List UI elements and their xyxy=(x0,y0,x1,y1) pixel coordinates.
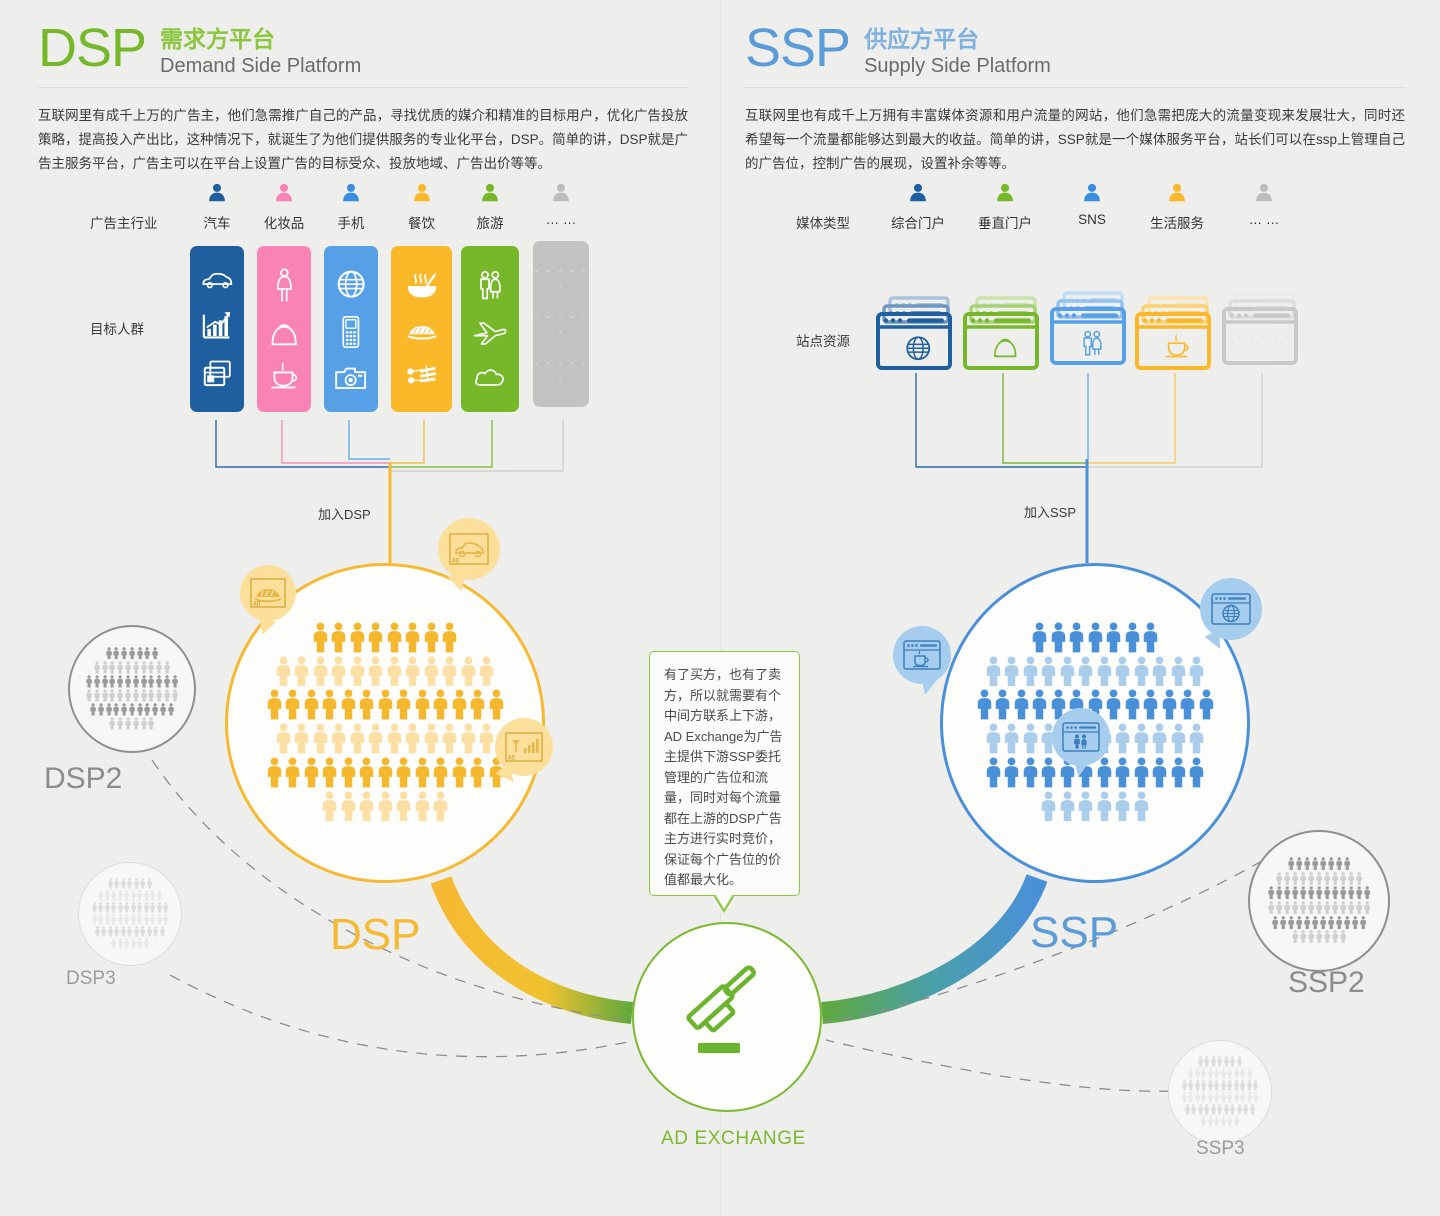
person-icon xyxy=(1312,857,1318,870)
ssp-badge-couple-window[interactable] xyxy=(1052,708,1110,766)
person-icon xyxy=(304,689,319,720)
person-icon xyxy=(1115,791,1130,822)
person-icon xyxy=(105,914,110,925)
person-icon xyxy=(1364,886,1370,899)
person-icon xyxy=(1162,689,1177,720)
dots-icon: · · · · · · xyxy=(533,355,589,385)
person-icon xyxy=(415,757,430,788)
person-icon xyxy=(118,914,123,925)
person-pin-icon-wrap xyxy=(876,182,960,209)
person-icon xyxy=(109,675,115,688)
dsp-badge-bread[interactable]: AD xyxy=(240,565,296,621)
ssp-site-window xyxy=(1135,296,1219,370)
person-icon xyxy=(111,902,116,913)
person-icon xyxy=(133,717,139,730)
person-icon xyxy=(127,926,132,937)
person-icon xyxy=(1214,1068,1219,1079)
person-icon xyxy=(1023,723,1038,754)
person-icon xyxy=(113,647,119,660)
dsp-column-label: 餐饮 xyxy=(391,212,452,232)
browser-window-stack xyxy=(1222,291,1306,365)
person-icon xyxy=(424,723,439,754)
skewer-icon xyxy=(405,363,439,387)
person-icon xyxy=(1308,886,1314,899)
ssp-column-4[interactable]: 生活服务 xyxy=(1135,182,1219,370)
browser-window-stack xyxy=(1135,296,1219,370)
person-icon xyxy=(276,656,291,687)
person-icon xyxy=(1115,656,1130,687)
person-icon xyxy=(1208,1080,1213,1091)
window-couple-icon xyxy=(1061,721,1101,753)
coffee-cup-icon xyxy=(1163,334,1192,359)
ad-signal-chart-icon: AD xyxy=(505,732,543,762)
ssp3-circle xyxy=(1168,1040,1272,1144)
person-icon xyxy=(160,926,165,937)
person-icon xyxy=(285,757,300,788)
person-icon xyxy=(1214,1092,1219,1103)
person-icon xyxy=(172,689,178,702)
person-icon xyxy=(1106,622,1121,653)
person-icon xyxy=(152,703,158,716)
person-icon xyxy=(1189,757,1204,788)
person-icon xyxy=(1227,1116,1232,1127)
person-icon xyxy=(1230,1056,1235,1067)
globe-icon xyxy=(335,268,367,300)
person-icon xyxy=(1221,1080,1226,1091)
ssp-column-label: SNS xyxy=(1050,212,1134,227)
person-icon xyxy=(1201,1116,1206,1127)
person-icon xyxy=(111,890,116,901)
person-icon xyxy=(1051,622,1066,653)
person-icon xyxy=(106,703,112,716)
person-icon xyxy=(121,878,126,889)
person-icon xyxy=(359,757,374,788)
person-icon xyxy=(1198,1104,1203,1115)
globe-icon xyxy=(904,334,933,363)
person-icon xyxy=(1221,1116,1226,1127)
ssp-column-3[interactable]: SNS xyxy=(1050,182,1134,365)
person-icon xyxy=(1340,872,1346,885)
person-icon xyxy=(489,689,504,720)
person-icon xyxy=(1208,1068,1213,1079)
callout-tail-inner xyxy=(715,894,733,909)
ssp-header-rule xyxy=(745,87,1405,88)
person-icon xyxy=(1224,1056,1229,1067)
person-icon xyxy=(164,661,170,674)
person-icon xyxy=(294,723,309,754)
dsp3-person-row xyxy=(95,926,165,937)
dsp-column-2[interactable]: 化妆品 xyxy=(257,182,311,412)
dsp3-person-row xyxy=(98,890,162,901)
person-icon xyxy=(1328,916,1334,929)
svg-text:AD: AD xyxy=(253,601,261,608)
person-icon xyxy=(157,890,162,901)
person-icon xyxy=(986,656,1001,687)
person-icon xyxy=(387,622,402,653)
person-icon xyxy=(1115,757,1130,788)
person-icon xyxy=(153,926,158,937)
ad-bread-icon: AD xyxy=(250,578,286,608)
ssp-window-glyph xyxy=(1135,334,1219,359)
person-icon xyxy=(1300,886,1306,899)
ssp-cn-title: 供应方平台 xyxy=(864,26,1051,53)
person-icon xyxy=(1189,723,1204,754)
person-icon xyxy=(368,723,383,754)
ssp-person-row xyxy=(1032,622,1158,653)
person-icon xyxy=(442,622,457,653)
person-icon xyxy=(1180,689,1195,720)
exchange-callout-text: 有了买方，也有了卖方，所以就需要有个中间方联系上下游，AD Exchange为广… xyxy=(650,652,799,901)
dsp-column-bar xyxy=(257,246,311,412)
person-icon xyxy=(152,647,158,660)
person-icon xyxy=(1152,723,1167,754)
person-icon xyxy=(267,689,282,720)
dots-icon: · · · · · xyxy=(1237,329,1291,344)
ssp3-person-row xyxy=(1182,1080,1259,1091)
ssp-column-label: … … xyxy=(1222,212,1306,227)
person-icon xyxy=(1308,930,1314,943)
dsp-column-6[interactable]: … … · · · · · ·· · · · · ·· · · · · · xyxy=(533,182,589,407)
person-pin-icon-wrap xyxy=(257,182,311,209)
person-icon xyxy=(1214,1080,1219,1091)
person-icon xyxy=(1312,916,1318,929)
dsp-column-bar xyxy=(461,246,519,412)
person-icon xyxy=(1097,656,1112,687)
person-icon xyxy=(1332,930,1338,943)
person-icon xyxy=(396,689,411,720)
person-icon xyxy=(1023,656,1038,687)
person-icon xyxy=(1171,757,1186,788)
person-icon xyxy=(1134,791,1149,822)
person-icon xyxy=(1199,689,1214,720)
person-icon xyxy=(144,902,149,913)
person-icon xyxy=(424,656,439,687)
person-icon xyxy=(148,717,154,730)
bread-icon xyxy=(405,321,439,342)
person-icon xyxy=(433,757,448,788)
ssp-column-1[interactable]: 综合门户 xyxy=(876,182,960,370)
gavel-icon xyxy=(672,965,782,1069)
dsp-column-1[interactable]: 汽车 xyxy=(190,182,244,412)
person-icon xyxy=(341,689,356,720)
person-icon xyxy=(160,703,166,716)
person-icon xyxy=(461,723,476,754)
person-icon xyxy=(1204,1056,1209,1067)
person-icon xyxy=(108,926,113,937)
dsp-column-label: 手机 xyxy=(324,212,378,232)
person-pin-icon xyxy=(411,182,433,204)
person-icon xyxy=(1041,656,1056,687)
person-icon xyxy=(405,622,420,653)
cloud-icon xyxy=(473,366,507,388)
ssp2-circle xyxy=(1248,830,1390,972)
person-icon xyxy=(1185,1104,1190,1115)
person-icon xyxy=(1344,916,1350,929)
ssp2-person-row xyxy=(1268,886,1370,899)
person-icon xyxy=(109,717,115,730)
browser-window-front-icon xyxy=(1222,307,1306,381)
person-icon xyxy=(86,675,92,688)
person-icon xyxy=(117,717,123,730)
person-icon xyxy=(117,661,123,674)
person-icon xyxy=(150,890,155,901)
person-icon xyxy=(111,938,116,949)
person-icon xyxy=(118,938,123,949)
person-pin-icon xyxy=(994,182,1016,204)
person-icon xyxy=(1182,1092,1187,1103)
dsp-abbr: DSP xyxy=(38,22,146,74)
person-icon xyxy=(1125,622,1140,653)
dsp-person-row xyxy=(267,757,504,788)
ssp-person-row xyxy=(1041,791,1149,822)
person-icon xyxy=(124,890,129,901)
person-icon xyxy=(1243,1104,1248,1115)
ssp-badge-globe-window[interactable] xyxy=(1200,578,1262,640)
person-icon xyxy=(101,926,106,937)
couple-icon xyxy=(1078,329,1107,358)
ssp2-person-row xyxy=(1292,930,1346,943)
person-icon xyxy=(1217,1056,1222,1067)
person-icon xyxy=(147,926,152,937)
person-icon xyxy=(134,878,139,889)
dsp-person-row xyxy=(276,723,495,754)
dsp-column-5[interactable]: 旅游 xyxy=(461,182,519,412)
person-icon xyxy=(92,902,97,913)
person-icon xyxy=(102,675,108,688)
person-icon xyxy=(1292,886,1298,899)
person-icon xyxy=(405,656,420,687)
person-icon xyxy=(141,689,147,702)
person-icon xyxy=(109,661,115,674)
airplane-icon xyxy=(473,320,508,347)
person-pin-icon-wrap xyxy=(324,182,378,209)
ssp-panel-header: SSP 供应方平台 Supply Side Platform 互联网里也有成千上… xyxy=(745,22,1405,176)
noodle-bowl-icon xyxy=(405,271,439,300)
ssp-row-label-mediatype: 媒体类型 xyxy=(796,212,850,232)
person-icon xyxy=(396,791,411,822)
person-icon xyxy=(1340,901,1346,914)
person-icon xyxy=(125,661,131,674)
person-icon xyxy=(1134,723,1149,754)
person-icon xyxy=(1328,857,1334,870)
dsp-column-4[interactable]: 餐饮 xyxy=(391,182,452,412)
person-icon xyxy=(1340,886,1346,899)
person-icon xyxy=(1188,1092,1193,1103)
person-icon xyxy=(452,757,467,788)
exchange-callout: 有了买方，也有了卖方，所以就需要有个中间方联系上下游，AD Exchange为广… xyxy=(649,651,800,896)
ad-car-icon: AD xyxy=(449,533,489,565)
person-icon xyxy=(164,675,170,688)
person-icon xyxy=(1296,857,1302,870)
woman-icon xyxy=(275,268,294,304)
person-icon xyxy=(141,661,147,674)
person-icon xyxy=(140,926,145,937)
person-icon xyxy=(1280,916,1286,929)
person-icon xyxy=(378,757,393,788)
person-icon xyxy=(461,656,476,687)
person-icon xyxy=(124,938,129,949)
person-pin-icon-wrap xyxy=(963,182,1047,209)
person-icon xyxy=(1004,656,1019,687)
person-icon xyxy=(350,656,365,687)
dsp-panel-header: DSP 需求方平台 Demand Side Platform 互联网里有成千上万… xyxy=(38,22,688,176)
person-icon xyxy=(1316,886,1322,899)
dsp3-circle xyxy=(78,862,182,966)
person-icon xyxy=(1316,901,1322,914)
person-icon xyxy=(133,675,139,688)
person-icon xyxy=(121,703,127,716)
ssp-description: 互联网里也有成千上万拥有丰富媒体资源和用户流量的网站，他们急需把庞大的流量变现来… xyxy=(745,104,1405,176)
person-icon xyxy=(95,926,100,937)
person-icon xyxy=(144,938,149,949)
person-icon xyxy=(442,656,457,687)
dsp-column-bar xyxy=(190,246,244,412)
person-icon xyxy=(1188,1068,1193,1079)
person-icon xyxy=(94,689,100,702)
dsp-person-row xyxy=(322,791,448,822)
person-icon xyxy=(1240,1080,1245,1091)
person-pin-icon xyxy=(1253,182,1275,204)
person-icon xyxy=(1195,1092,1200,1103)
dsp2-person-row xyxy=(86,689,178,702)
ssp-column-5[interactable]: … … · · · · · xyxy=(1222,182,1306,365)
person-icon xyxy=(105,890,110,901)
person-icon xyxy=(331,656,346,687)
person-icon xyxy=(1032,622,1047,653)
person-icon xyxy=(124,902,129,913)
person-icon xyxy=(137,703,143,716)
person-icon xyxy=(114,926,119,937)
dsp2-person-row xyxy=(109,717,154,730)
ssp-column-label: 生活服务 xyxy=(1135,212,1219,232)
person-icon xyxy=(1247,1068,1252,1079)
ad-exchange-label: AD EXCHANGE xyxy=(661,1128,806,1150)
dsp-column-bar: · · · · · ·· · · · · ·· · · · · · xyxy=(533,241,589,407)
person-icon xyxy=(140,878,145,889)
person-icon xyxy=(368,656,383,687)
person-icon xyxy=(1240,1068,1245,1079)
person-icon xyxy=(117,689,123,702)
person-icon xyxy=(341,791,356,822)
person-icon xyxy=(1253,1092,1258,1103)
ssp-abbr: SSP xyxy=(745,22,850,74)
dots-icon: · · · · · · xyxy=(533,309,589,339)
person-icon xyxy=(131,938,136,949)
person-icon xyxy=(1004,757,1019,788)
window-globe-icon xyxy=(1210,592,1252,626)
dsp-badge-signal[interactable]: AD xyxy=(495,718,553,776)
person-icon xyxy=(415,791,430,822)
person-icon xyxy=(164,689,170,702)
person-icon xyxy=(1115,723,1130,754)
person-pin-icon xyxy=(550,182,572,204)
browser-window-stack xyxy=(963,296,1047,370)
ssp2-person-row xyxy=(1276,872,1362,885)
person-icon xyxy=(125,675,131,688)
ssp-en-title: Supply Side Platform xyxy=(864,53,1051,79)
person-icon xyxy=(1032,689,1047,720)
person-icon xyxy=(1300,930,1306,943)
dsp-column-3[interactable]: 手机 xyxy=(324,182,378,412)
person-icon xyxy=(1143,689,1158,720)
person-icon xyxy=(1250,1104,1255,1115)
ssp-site-window xyxy=(876,296,960,370)
person-icon xyxy=(144,890,149,901)
person-icon xyxy=(1316,930,1322,943)
ad-exchange-hub[interactable] xyxy=(632,922,822,1112)
dots-icon: · · · · · · xyxy=(533,263,589,293)
dsp3-person-row xyxy=(108,878,152,889)
person-icon xyxy=(121,926,126,937)
person-icon xyxy=(1201,1068,1206,1079)
ssp-column-2[interactable]: 垂直门户 xyxy=(963,182,1047,370)
person-icon xyxy=(1204,1104,1209,1115)
person-icon xyxy=(1332,901,1338,914)
person-icon xyxy=(1288,916,1294,929)
person-icon xyxy=(1214,1116,1219,1127)
dsp-column-bar xyxy=(324,246,378,412)
ssp-window-glyph xyxy=(1050,329,1134,358)
person-icon xyxy=(1201,1092,1206,1103)
ssp3-person-row xyxy=(1182,1092,1259,1103)
ssp2-person-row xyxy=(1288,857,1350,870)
dsp-header-rule xyxy=(38,87,688,88)
person-icon xyxy=(1344,857,1350,870)
person-icon xyxy=(148,661,154,674)
dsp3-person-row xyxy=(92,914,169,925)
person-icon xyxy=(1152,656,1167,687)
person-icon xyxy=(1356,901,1362,914)
dsp2-person-row xyxy=(86,675,178,688)
person-icon xyxy=(1234,1080,1239,1091)
chart-growth-icon xyxy=(201,309,232,340)
person-icon xyxy=(1078,791,1093,822)
person-icon xyxy=(1237,1104,1242,1115)
person-icon xyxy=(1234,1092,1239,1103)
person-icon xyxy=(144,914,149,925)
car-icon xyxy=(200,269,234,290)
person-icon xyxy=(157,902,162,913)
person-icon xyxy=(313,656,328,687)
person-icon xyxy=(147,878,152,889)
person-pin-icon xyxy=(479,182,501,204)
dsp-person-row xyxy=(313,622,458,653)
person-icon xyxy=(1060,656,1075,687)
person-icon xyxy=(98,902,103,913)
person-icon xyxy=(113,703,119,716)
dsp-column-label: 旅游 xyxy=(461,212,519,232)
person-icon xyxy=(1276,886,1282,899)
person-icon xyxy=(350,723,365,754)
ssp-badge-coffee-window[interactable] xyxy=(893,626,951,684)
person-icon xyxy=(1292,930,1298,943)
window-coffee-icon xyxy=(902,639,942,671)
person-icon xyxy=(1078,656,1093,687)
ssp-window-glyph: · · · · · xyxy=(1222,329,1306,344)
person-icon xyxy=(1211,1056,1216,1067)
dsp-badge-car[interactable]: AD xyxy=(438,518,500,580)
person-icon xyxy=(1304,916,1310,929)
person-icon xyxy=(1152,757,1167,788)
person-icon xyxy=(1332,872,1338,885)
person-icon xyxy=(396,757,411,788)
person-icon xyxy=(322,791,337,822)
person-icon xyxy=(331,723,346,754)
person-pin-icon xyxy=(907,182,929,204)
person-icon xyxy=(131,902,136,913)
person-icon xyxy=(1208,1092,1213,1103)
person-icon xyxy=(1041,791,1056,822)
